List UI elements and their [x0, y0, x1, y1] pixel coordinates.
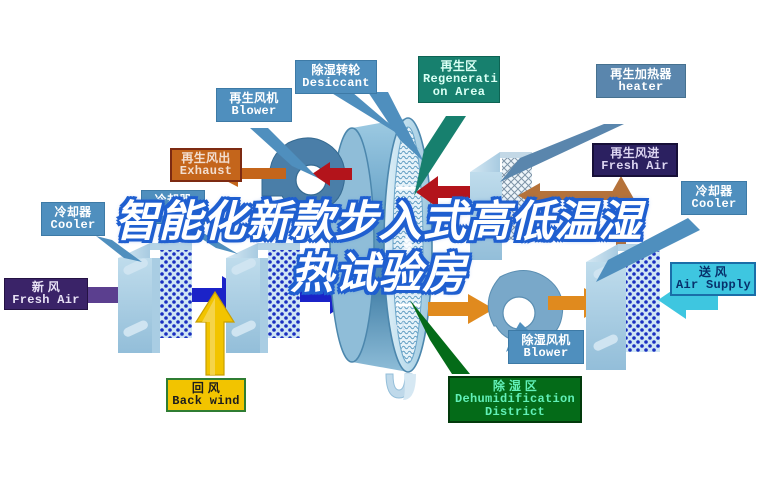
label-exhaust-cn: 再生风出 [176, 152, 236, 165]
label-dehumidification-district-cn: 除 湿 区 [454, 380, 576, 393]
label-regeneration-area-en: Regenerati [423, 73, 495, 86]
label-desiccant-rotor-en: Desiccant [300, 77, 372, 90]
label-dehumidification-blower-cn: 除湿风机 [513, 334, 579, 347]
label-exhaust[interactable]: 再生风出 Exhaust [170, 148, 242, 182]
label-dehumidification-blower-en: Blower [513, 347, 579, 360]
label-regeneration-fresh-air-cn: 再生风进 [598, 147, 672, 160]
svg-text:xt: xt [393, 318, 407, 333]
label-regeneration-area-en2: on Area [423, 86, 495, 99]
label-dehumidification-blower[interactable]: 除湿风机 Blower [508, 330, 584, 364]
label-back-wind-cn: 回 风 [172, 382, 240, 395]
label-desiccant-rotor[interactable]: 除湿转轮 Desiccant [295, 60, 377, 94]
label-dehumidification-district[interactable]: 除 湿 区 Dehumidification District [448, 376, 582, 423]
label-exhaust-en: Exhaust [176, 165, 236, 178]
title-overlay: 智能化新款步入式高低温湿 热试验房 [0, 196, 757, 300]
label-regeneration-blower[interactable]: 再生风机 Blower [216, 88, 292, 122]
label-desiccant-rotor-cn: 除湿转轮 [300, 64, 372, 77]
label-regeneration-heater-cn: 再生加热器 [601, 68, 681, 81]
label-regeneration-heater-en: heater [601, 81, 681, 94]
label-regeneration-area-cn: 再生区 [423, 60, 495, 73]
label-dehumidification-district-en: Dehumidification [454, 393, 576, 406]
label-back-wind[interactable]: 回 风 Back wind [166, 378, 246, 412]
title-line-1: 智能化新款步入式高低温湿 [115, 197, 643, 247]
label-regeneration-area[interactable]: 再生区 Regenerati on Area [418, 56, 500, 103]
label-dehumidification-district-en2: District [454, 406, 576, 419]
diagram-canvas: xt 除湿转轮 Desiccant 再生风机 Blower 再生区 Regene… [0, 0, 757, 488]
label-regeneration-blower-en: Blower [221, 105, 287, 118]
title-line-2: 热试验房 [0, 248, 757, 300]
label-back-wind-en: Back wind [172, 395, 240, 408]
label-regeneration-fresh-air[interactable]: 再生风进 Fresh Air [592, 143, 678, 177]
label-regeneration-fresh-air-en: Fresh Air [598, 160, 672, 173]
label-regeneration-heater[interactable]: 再生加热器 heater [596, 64, 686, 98]
label-regeneration-blower-cn: 再生风机 [221, 92, 287, 105]
